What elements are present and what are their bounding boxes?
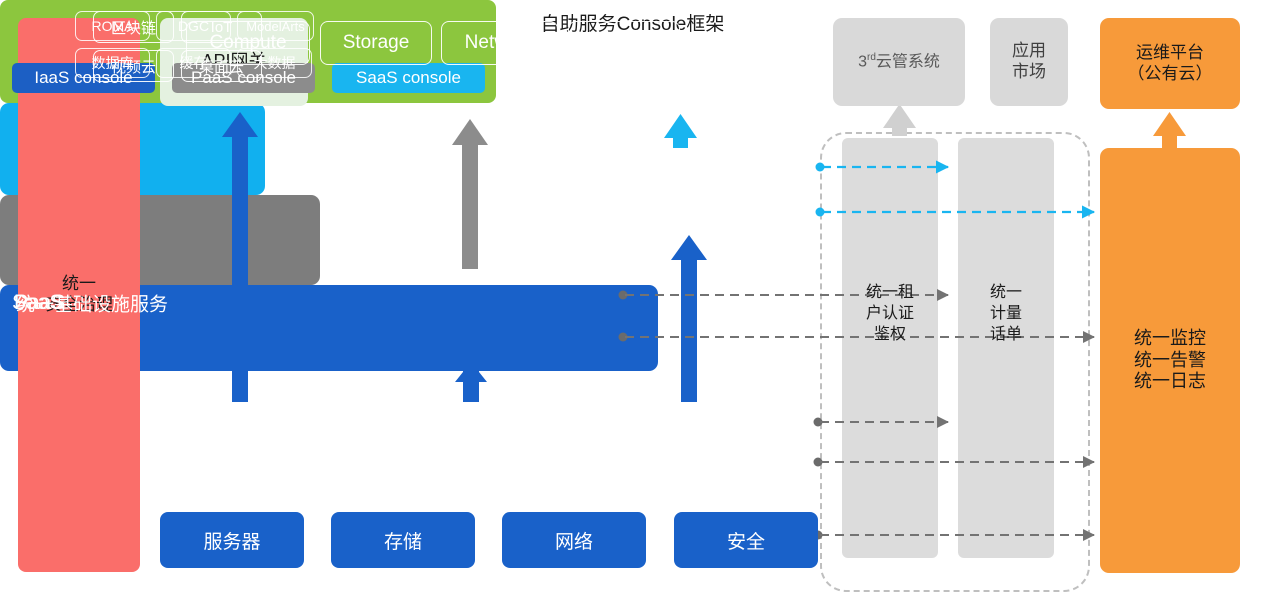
dashed-saas-to-ops bbox=[816, 208, 1095, 217]
ops-panel-line-2: 统一告警 bbox=[1134, 350, 1206, 372]
arrow-saas-to-console bbox=[664, 114, 697, 148]
third-party-suffix: 云管系统 bbox=[876, 53, 940, 70]
arrow-infra-to-paas bbox=[455, 362, 487, 402]
billing-line-3: 话单 bbox=[958, 325, 1054, 346]
app-market-line-2: 市场 bbox=[1012, 62, 1046, 83]
arrow-paas-to-console bbox=[452, 119, 488, 269]
ops-top-line-2: （公有云） bbox=[1128, 64, 1213, 85]
billing-line-1: 统一 bbox=[958, 283, 1054, 304]
third-party-cloud-mgmt-box[interactable]: 3rd云管系统 bbox=[833, 18, 965, 106]
infrastructure-label: 统一基础设施服务 bbox=[16, 289, 168, 316]
paas-item-database[interactable]: 数据库 bbox=[75, 48, 150, 78]
ops-panel-line-3: 统一日志 bbox=[1134, 371, 1206, 393]
dashed-infra-to-auth bbox=[814, 418, 949, 427]
ops-top-line-1: 运维平台 bbox=[1128, 43, 1213, 64]
resource-security-box[interactable]: 安全 bbox=[674, 512, 818, 568]
saas-console-badge[interactable]: SaaS console bbox=[332, 63, 485, 93]
auth-line-2: 户认证 bbox=[842, 304, 938, 325]
auth-line-1: 统一租 bbox=[842, 283, 938, 304]
ops-panel-line-1: 统一监控 bbox=[1134, 328, 1206, 350]
ops-platform-public-cloud-box[interactable]: 运维平台 （公有云） bbox=[1100, 18, 1240, 109]
arrow-infra-to-gateway bbox=[222, 112, 258, 402]
dashed-infra-to-ops bbox=[814, 458, 1095, 467]
dashed-saas-to-auth bbox=[816, 163, 949, 172]
infra-item-compute[interactable]: Compute bbox=[186, 21, 310, 65]
resource-network-box[interactable]: 网络 bbox=[502, 512, 646, 568]
app-market-line-1: 应用 bbox=[1012, 41, 1046, 62]
infra-item-cce[interactable]: CCE bbox=[568, 21, 680, 65]
ops-monitoring-panel[interactable]: 统一监控 统一告警 统一日志 bbox=[1100, 148, 1240, 573]
infra-item-storage[interactable]: Storage bbox=[320, 21, 432, 65]
paas-item-roma[interactable]: ROMA bbox=[75, 11, 150, 41]
resource-server-box[interactable]: 服务器 bbox=[160, 512, 304, 568]
app-market-box[interactable]: 应用 市场 bbox=[990, 18, 1068, 106]
arrow-shared-to-third-party bbox=[883, 104, 916, 136]
arrow-infra-to-saas bbox=[671, 235, 707, 402]
architecture-diagram: 统一租 户认证 鉴权 统一 计量 话单 统一 安全治理 API网关 自助服务Co… bbox=[0, 0, 1265, 605]
billing-line-2: 计量 bbox=[958, 304, 1054, 325]
arrow-ops-panel-to-ops-top bbox=[1153, 112, 1186, 150]
third-party-sup: rd bbox=[867, 52, 876, 63]
unified-billing-label: 统一 计量 话单 bbox=[958, 283, 1054, 345]
third-party-prefix: 3 bbox=[858, 53, 867, 70]
infra-item-network[interactable]: Network bbox=[441, 21, 558, 65]
unified-auth-label: 统一租 户认证 鉴权 bbox=[842, 283, 938, 345]
dashed-resources-to-ops bbox=[814, 531, 1095, 540]
auth-line-3: 鉴权 bbox=[842, 325, 938, 346]
resource-storage-box[interactable]: 存储 bbox=[331, 512, 475, 568]
